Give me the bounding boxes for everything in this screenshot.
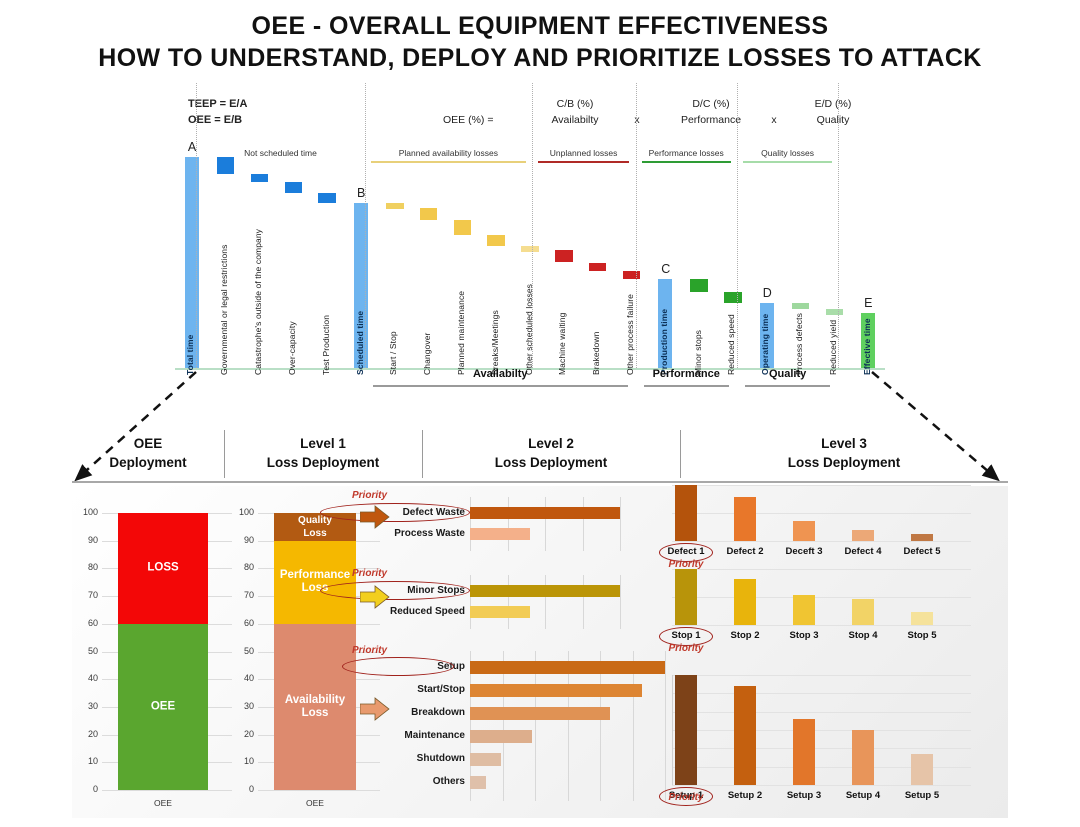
waterfall-bar [589, 263, 607, 271]
waterfall-category-label: Planned availability losses [365, 148, 532, 158]
level3-bar [852, 730, 874, 785]
level3-gridline [672, 569, 971, 570]
stack-segment: LOSS [118, 513, 208, 624]
waterfall-category-label: Quality losses [737, 148, 838, 158]
waterfall-bar-label: Production time [659, 309, 669, 375]
deployment-header-divider [680, 430, 681, 478]
deployment-header-line1: Level 2 [422, 434, 680, 453]
waterfall-bar [386, 203, 404, 209]
y-axis-tick: 90 [76, 535, 98, 545]
priority-ellipse [342, 657, 454, 676]
priority-label: Priority [352, 645, 387, 656]
y-axis-tick: 30 [76, 701, 98, 711]
deployment-header-divider [422, 430, 423, 478]
deployment-header-line2: Loss Deployment [422, 453, 680, 472]
formula-multiply-2: x [767, 114, 781, 126]
waterfall-bar [251, 174, 269, 182]
section-divider [636, 83, 637, 368]
y-axis-tick: 20 [76, 729, 98, 739]
formula-quality-name: Quality [790, 114, 876, 126]
level3-gridline [672, 712, 971, 713]
waterfall-category-label: Performance losses [636, 148, 737, 158]
deployment-header-line2: Loss Deployment [680, 453, 1008, 472]
level3-bar-label: Defect 5 [893, 546, 951, 557]
y-axis-tick: 30 [232, 701, 254, 711]
level2-gridline [665, 651, 666, 801]
level3-bar-label: Stop 4 [834, 630, 892, 641]
waterfall-bar [454, 220, 472, 235]
level2-gridline [620, 575, 621, 629]
waterfall-bar [623, 271, 641, 279]
waterfall-bar-label: Governmental or legal restrictions [219, 245, 229, 375]
section-divider [838, 83, 839, 368]
waterfall-category-rule [642, 161, 731, 163]
formula-performance-name: Performance [665, 114, 757, 126]
y-axis-tick: 10 [232, 756, 254, 766]
y-axis-tick: 10 [76, 756, 98, 766]
level2-bar [470, 730, 532, 743]
waterfall-bar-label: Test Production [321, 315, 331, 375]
level3-gridline [672, 675, 971, 676]
level2-bar-label: Others [310, 776, 465, 787]
priority-label: Priority [352, 568, 387, 579]
availability-arrow [360, 697, 390, 721]
stack-segment-label: LOSS [118, 562, 208, 575]
level3-bar-label: Stop 3 [775, 630, 833, 641]
waterfall-marker-e: E [864, 296, 872, 310]
waterfall-bar [792, 303, 810, 309]
waterfall-bar-label: Total time [185, 334, 195, 375]
level3-bar [675, 569, 697, 625]
level3-bar-label: Setup 5 [893, 790, 951, 801]
level2-gridline [620, 497, 621, 551]
priority-ellipse [320, 581, 470, 600]
deployment-header-line2: Loss Deployment [224, 453, 422, 472]
y-axis-tick: 50 [232, 646, 254, 656]
level2-bar-label: Maintenance [310, 730, 465, 741]
level2-bar [470, 707, 610, 720]
level3-bar-label: Deceft 3 [775, 546, 833, 557]
level3-bar [852, 530, 874, 541]
y-axis-tick: 100 [76, 507, 98, 517]
deployment-header-line2: Deployment [72, 453, 224, 472]
y-axis-tick: 0 [232, 784, 254, 794]
deployment-header-line1: Level 1 [224, 434, 422, 453]
level2-bar-label: Process Waste [310, 528, 465, 539]
level3-gridline [672, 625, 971, 626]
level2-bar [470, 661, 665, 674]
level3-bar-label: Setup 2 [716, 790, 774, 801]
formula-performance-ratio: D/C (%) [665, 98, 757, 110]
level2-gridline [583, 575, 584, 629]
y-axis-tick: 70 [76, 590, 98, 600]
section-divider [365, 83, 366, 368]
level3-bar [793, 595, 815, 625]
waterfall-bar-label: Process defects [794, 313, 804, 375]
deployment-header-line1: Level 3 [680, 434, 1008, 453]
level3-gridline [672, 785, 971, 786]
waterfall-bar [826, 309, 844, 315]
level3-gridline [672, 541, 971, 542]
waterfall-bar-label: Machine waiting [557, 313, 567, 375]
deployment-header-cell: OEEDeployment [72, 434, 224, 472]
level2-bar [470, 684, 642, 697]
priority-label: Priority [662, 643, 710, 654]
waterfall-marker-d: D [763, 286, 772, 300]
level2-bar [470, 776, 486, 789]
waterfall-bar [690, 279, 708, 292]
level3-bar [675, 675, 697, 785]
stack-segment: OEE [118, 624, 208, 790]
level3-axis-line [672, 675, 673, 785]
y-axis-tick: 100 [232, 507, 254, 517]
level3-gridline [672, 485, 971, 486]
level3-bar [793, 719, 815, 785]
waterfall-marker-c: C [661, 262, 670, 276]
quality-arrow [360, 505, 390, 529]
stack-segment-label: OEE [118, 700, 208, 713]
level3-bar-label: Defect 2 [716, 546, 774, 557]
level3-bar-label: Defect 4 [834, 546, 892, 557]
y-axis-tick: 80 [232, 562, 254, 572]
waterfall-bar-label: Over-capacity [287, 321, 297, 375]
waterfall-bar [318, 193, 336, 204]
waterfall-bar-label: Other process failure [625, 294, 635, 375]
gridline [102, 790, 232, 791]
title-line-2: HOW TO UNDERSTAND, DEPLOY AND PRIORITIZE… [0, 42, 1080, 74]
waterfall-group-label: Availabilty [365, 368, 636, 380]
level2-gridline [545, 497, 546, 551]
waterfall-category-rule [743, 161, 832, 163]
x-axis-label: OEE [254, 798, 376, 808]
priority-ellipse [320, 503, 470, 522]
level3-bar [734, 497, 756, 541]
y-axis-tick: 40 [76, 673, 98, 683]
y-axis-tick: 70 [232, 590, 254, 600]
level2-gridline [470, 497, 471, 551]
waterfall-bar-label: Reduced speed [726, 314, 736, 375]
level3-bar [911, 534, 933, 541]
waterfall-group-label: Quality [737, 368, 838, 380]
priority-label: Priority [662, 792, 710, 803]
waterfall-bar-label: Operating time [760, 314, 770, 375]
y-axis-tick: 20 [232, 729, 254, 739]
waterfall-group-rule [373, 385, 628, 387]
deployment-header: OEEDeploymentLevel 1Loss DeploymentLevel… [72, 428, 1008, 480]
level3-gridline [672, 730, 971, 731]
level2-bar [470, 585, 620, 597]
level2-gridline [470, 575, 471, 629]
waterfall-marker-a: A [188, 140, 196, 154]
waterfall-bar [217, 157, 235, 174]
level3-bar-label: Setup 3 [775, 790, 833, 801]
formula-multiply-1: x [630, 114, 644, 126]
waterfall-bar-label: Scheduled time [355, 311, 365, 375]
priority-label: Priority [352, 490, 387, 501]
level3-bar [793, 521, 815, 541]
section-divider [196, 83, 197, 368]
y-axis-tick: 90 [232, 535, 254, 545]
waterfall-bar [521, 246, 539, 252]
level3-gridline [672, 513, 971, 514]
waterfall-bar [724, 292, 742, 303]
level3-gridline [672, 748, 971, 749]
y-axis-tick: 0 [76, 784, 98, 794]
formula-quality-ratio: E/D (%) [790, 98, 876, 110]
deployment-header-cell: Level 3Loss Deployment [680, 434, 1008, 472]
level3-bar [911, 754, 933, 785]
waterfall-group-rule [745, 385, 830, 387]
section-divider [737, 83, 738, 368]
y-axis-tick: 80 [76, 562, 98, 572]
waterfall-category-label: Unplanned losses [532, 148, 636, 158]
waterfall-bar [420, 208, 438, 221]
waterfall-category-rule [538, 161, 630, 163]
level2-gridline [508, 497, 509, 551]
level3-bar [911, 612, 933, 625]
level3-bar [734, 579, 756, 625]
waterfall-bar-label: Catastrophe's outside of the company [253, 229, 263, 375]
waterfall-bar-label: Breaks/Meetings [490, 310, 500, 375]
waterfall-category-rule [371, 161, 526, 163]
waterfall-bar-label: Planned maintenance [456, 291, 466, 375]
deployment-header-line1: OEE [72, 434, 224, 453]
y-axis-tick: 50 [76, 646, 98, 656]
level2-bar [470, 606, 530, 618]
level2-bar [470, 528, 530, 540]
level3-bar-label: Stop 5 [893, 630, 951, 641]
level3-bar [852, 599, 874, 625]
level3-bar-label: Setup 4 [834, 790, 892, 801]
level2-bar-label: Start/Stop [310, 684, 465, 695]
section-divider [532, 83, 533, 368]
level2-gridline [508, 575, 509, 629]
level2-gridline [583, 497, 584, 551]
page-title: OEE - OVERALL EQUIPMENT EFFECTIVENESS HO… [0, 10, 1080, 74]
formula-availability-ratio: C/B (%) [530, 98, 620, 110]
level2-bar-label: Shutdown [310, 753, 465, 764]
waterfall-group-rule [644, 385, 729, 387]
waterfall-group-label: Performance [636, 368, 737, 380]
level2-gridline [545, 575, 546, 629]
formula-availability-name: Availabilty [530, 114, 620, 126]
deployment-header-cell: Level 1Loss Deployment [224, 434, 422, 472]
x-axis-label: OEE [98, 798, 228, 808]
formula-oee-equals: OEE (%) = [443, 114, 493, 126]
level3-bar [734, 686, 756, 785]
deployment-header-divider [224, 430, 225, 478]
waterfall-category-label: Not scheduled time [196, 148, 365, 158]
waterfall-bar [285, 182, 303, 193]
level2-bar [470, 507, 620, 519]
oee-waterfall-chart: Total timeGovernmental or legal restrict… [175, 145, 885, 370]
waterfall-bar-label: Effective time [862, 318, 872, 375]
waterfall-bar [487, 235, 505, 246]
deployment-header-underline [72, 481, 1008, 483]
deployment-header-cell: Level 2Loss Deployment [422, 434, 680, 472]
y-axis-tick: 40 [232, 673, 254, 683]
performance-arrow [360, 585, 390, 609]
level3-bar [675, 485, 697, 541]
y-axis-tick: 60 [232, 618, 254, 628]
waterfall-bar [555, 250, 573, 263]
gridline [258, 790, 380, 791]
level2-bar [470, 753, 501, 766]
y-axis-tick: 60 [76, 618, 98, 628]
waterfall-bar-label: Reduced yield [828, 320, 838, 375]
level3-gridline [672, 597, 971, 598]
title-line-1: OEE - OVERALL EQUIPMENT EFFECTIVENESS [0, 10, 1080, 42]
level3-gridline [672, 693, 971, 694]
level3-bar-label: Stop 2 [716, 630, 774, 641]
